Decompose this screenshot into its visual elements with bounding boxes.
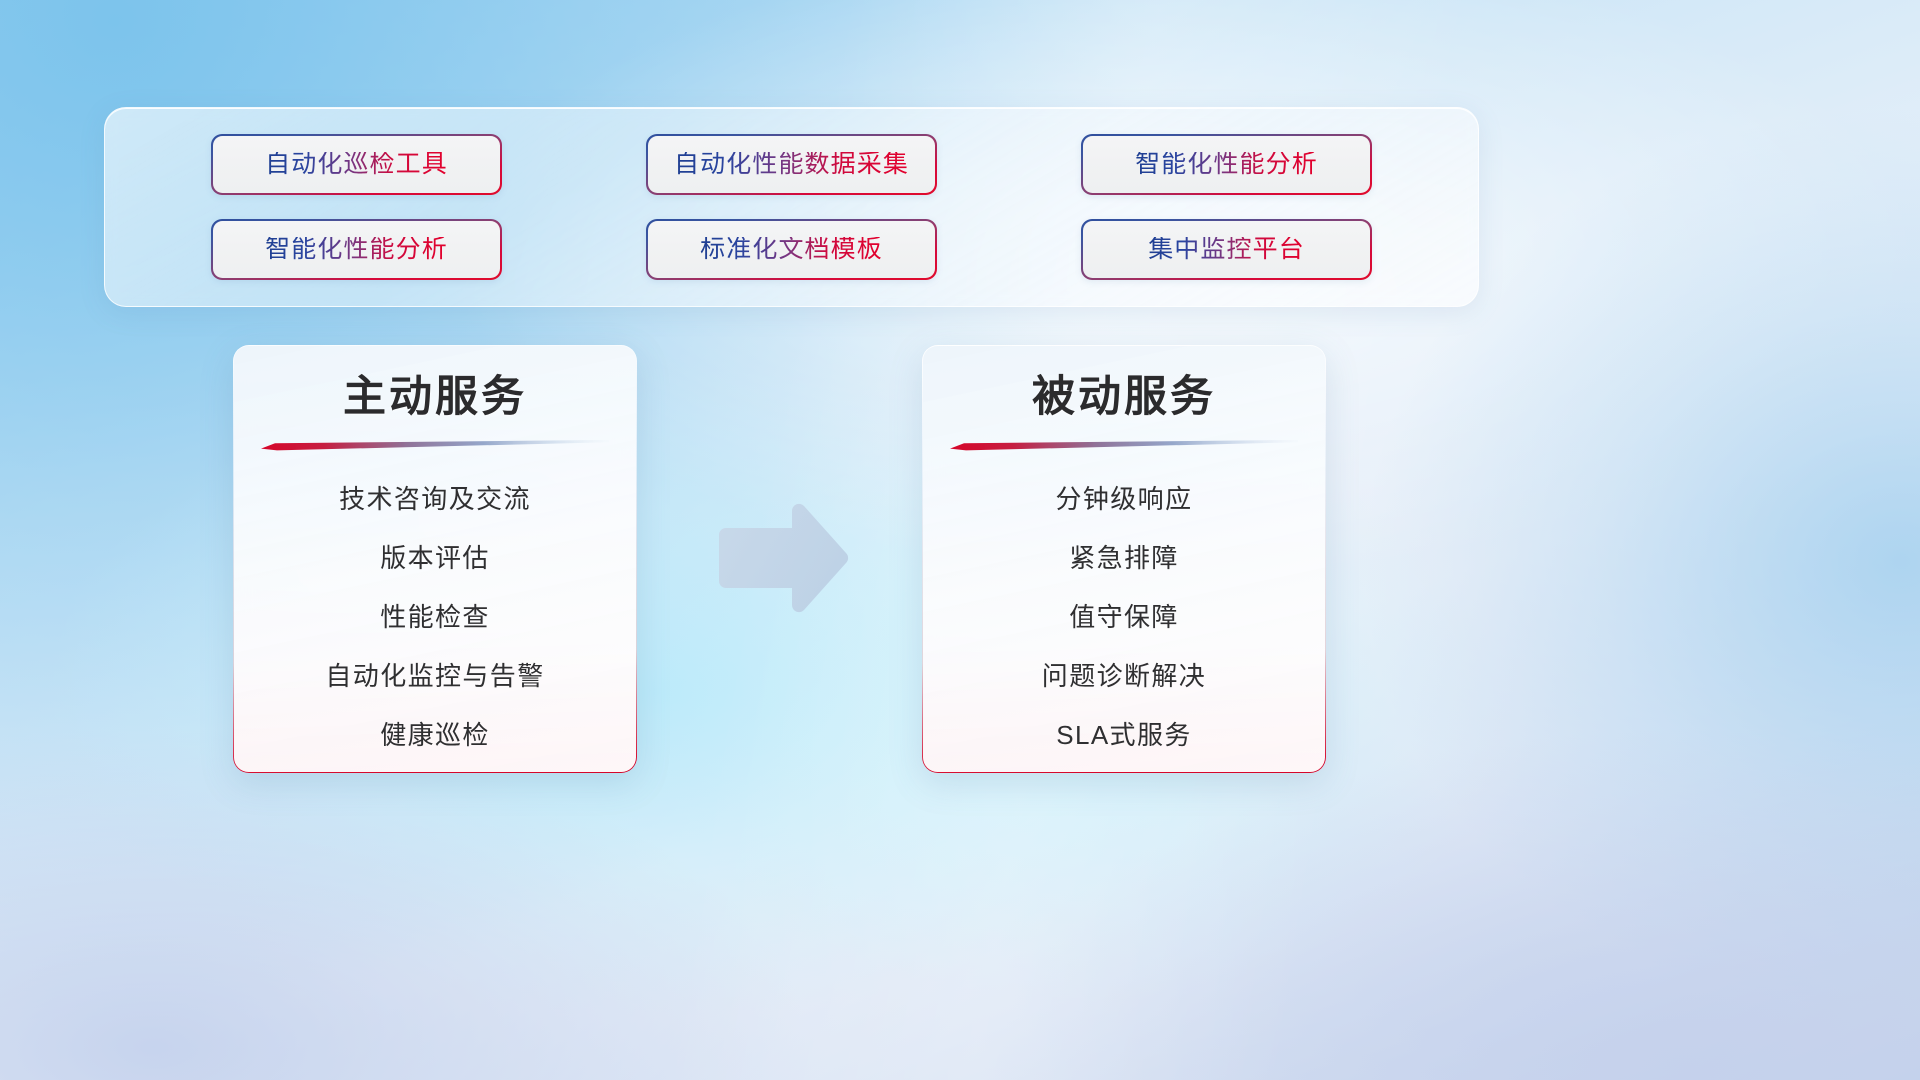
slide-canvas: 自动化巡检工具 自动化性能数据采集 智能化性能分析 智能化性能分析 标准化文档模… — [0, 0, 1920, 1080]
capability-tag-4-label: 智能化性能分析 — [265, 237, 448, 262]
capability-tag-1[interactable]: 自动化巡检工具 — [211, 134, 502, 195]
capability-tag-2-surface: 自动化性能数据采集 — [648, 136, 936, 194]
list-item[interactable]: 问题诊断解决 — [1042, 646, 1206, 705]
list-item[interactable]: 值守保障 — [1069, 587, 1179, 646]
capability-tag-2[interactable]: 自动化性能数据采集 — [646, 134, 937, 195]
reactive-service-card[interactable]: 被动服务 — [922, 345, 1326, 773]
proactive-service-card-surface: 主动服务 — [234, 346, 635, 771]
capability-tag-5[interactable]: 标准化文档模板 — [646, 219, 937, 280]
proactive-service-card-title: 主动服务 — [343, 372, 527, 423]
list-item[interactable]: 自动化监控与告警 — [325, 646, 544, 705]
capability-tag-3[interactable]: 智能化性能分析 — [1081, 134, 1372, 195]
capability-tag-5-surface: 标准化文档模板 — [648, 221, 936, 279]
list-item[interactable]: 版本评估 — [380, 528, 490, 587]
proactive-service-list: 技术咨询及交流 版本评估 性能检查 自动化监控与告警 健康巡检 — [234, 469, 635, 764]
capability-tag-6-label: 集中监控平台 — [1148, 237, 1305, 262]
capability-tag-6[interactable]: 集中监控平台 — [1081, 219, 1372, 280]
capability-tag-6-surface: 集中监控平台 — [1083, 221, 1371, 279]
list-item[interactable]: SLA式服务 — [1056, 705, 1192, 764]
list-item[interactable]: 紧急排障 — [1069, 528, 1179, 587]
list-item[interactable]: 健康巡检 — [380, 705, 490, 764]
reactive-card-divider — [950, 439, 1298, 451]
proactive-service-card[interactable]: 主动服务 — [233, 345, 637, 773]
list-item[interactable]: 技术咨询及交流 — [339, 469, 531, 528]
reactive-service-list: 分钟级响应 紧急排障 值守保障 问题诊断解决 SLA式服务 — [923, 469, 1324, 764]
proactive-card-divider — [261, 439, 609, 451]
capability-tag-3-label: 智能化性能分析 — [1135, 152, 1318, 177]
list-item[interactable]: 性能检查 — [380, 587, 490, 646]
list-item[interactable]: 分钟级响应 — [1055, 469, 1192, 528]
capability-tag-4[interactable]: 智能化性能分析 — [211, 219, 502, 280]
capability-tags-panel: 自动化巡检工具 自动化性能数据采集 智能化性能分析 智能化性能分析 标准化文档模… — [104, 107, 1479, 307]
capability-tag-4-surface: 智能化性能分析 — [213, 221, 501, 279]
capability-tag-1-surface: 自动化巡检工具 — [213, 136, 501, 194]
reactive-service-card-surface: 被动服务 — [923, 346, 1324, 771]
capability-tag-2-label: 自动化性能数据采集 — [674, 152, 909, 177]
capability-tag-3-surface: 智能化性能分析 — [1083, 136, 1371, 194]
right-arrow-icon — [713, 503, 853, 613]
capability-tag-1-label: 自动化巡检工具 — [265, 152, 448, 177]
reactive-service-card-title: 被动服务 — [1032, 372, 1216, 423]
capability-tag-5-label: 标准化文档模板 — [700, 237, 883, 262]
